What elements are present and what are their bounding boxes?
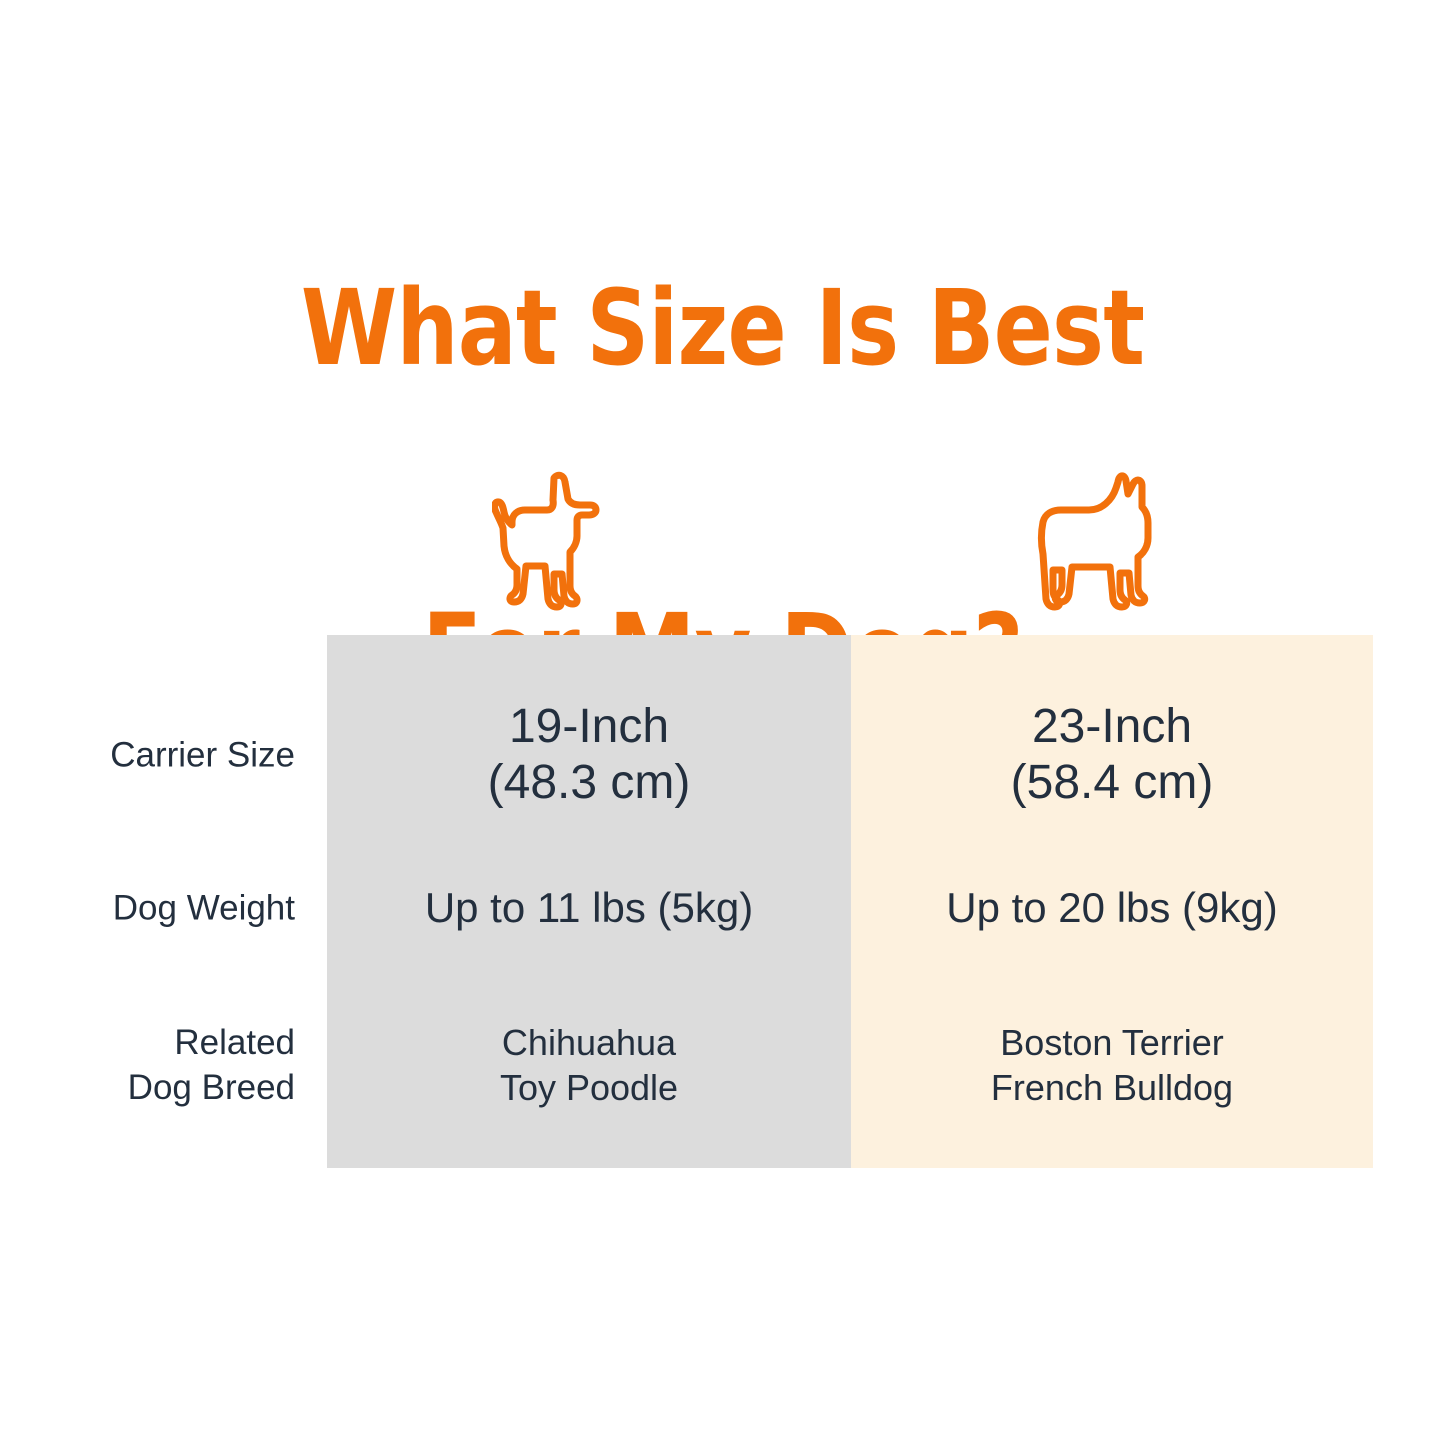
table-row: Dog Weight Up to 11 lbs (5kg) Up to 20 l… xyxy=(0,853,1445,963)
table-row: Related Dog Breed Chihuahua Toy Poodle B… xyxy=(0,990,1445,1140)
row-label-dog-breed: Related Dog Breed xyxy=(60,1020,295,1110)
french-bulldog-icon xyxy=(1032,470,1160,613)
infographic-page: What Size Is Best For My Dog? Carrier Si… xyxy=(0,0,1445,1445)
chihuahua-dog-icon xyxy=(492,470,610,613)
page-title-line-1: What Size Is Best xyxy=(116,274,1330,382)
table-row: Carrier Size 19-Inch (48.3 cm) 23-Inch (… xyxy=(0,680,1445,830)
row-label-dog-weight: Dog Weight xyxy=(60,886,295,931)
cell-dog-breed-medium: Boston Terrier French Bulldog xyxy=(851,1020,1373,1110)
cell-carrier-size-medium: 23-Inch (58.4 cm) xyxy=(851,699,1373,811)
row-label-carrier-size: Carrier Size xyxy=(60,733,295,778)
cell-dog-weight-small: Up to 11 lbs (5kg) xyxy=(327,882,851,934)
cell-dog-weight-medium: Up to 20 lbs (9kg) xyxy=(851,882,1373,934)
cell-carrier-size-small: 19-Inch (48.3 cm) xyxy=(327,699,851,811)
comparison-table: Carrier Size 19-Inch (48.3 cm) 23-Inch (… xyxy=(0,635,1445,1168)
cell-dog-breed-small: Chihuahua Toy Poodle xyxy=(327,1020,851,1110)
